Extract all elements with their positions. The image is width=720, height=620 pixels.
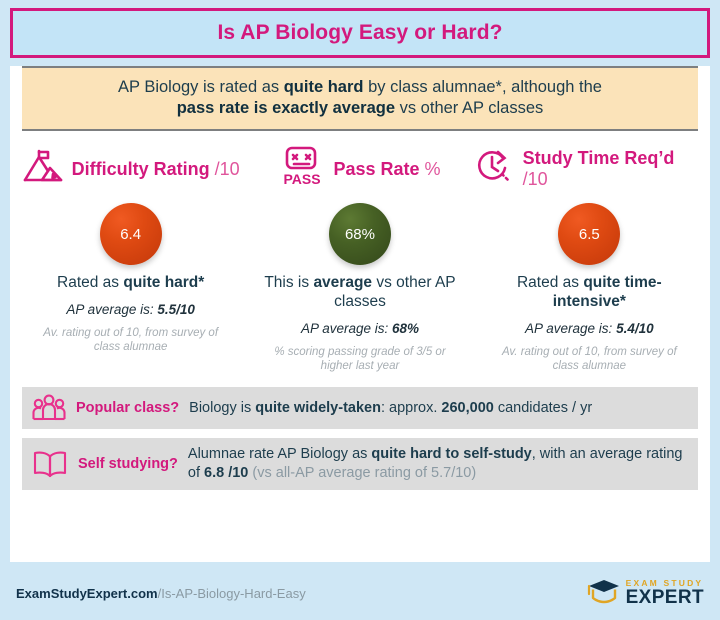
column-header: PASS Pass Rate % [245, 143, 474, 195]
verdict-study-time: Rated as quite time-intensive* [475, 273, 704, 311]
logo-tagline: EXAM STUDY [626, 579, 704, 588]
summary-line-1: AP Biology is rated as quite hard by cla… [32, 77, 688, 98]
average-pass-rate: AP average is: 68% [245, 320, 474, 337]
svg-text:PASS: PASS [284, 171, 321, 187]
column-title-unit: % [425, 159, 441, 179]
average-label: AP average is: [66, 302, 157, 317]
column-title-unit: /10 [215, 159, 240, 179]
text-b: quite hard to self-study [371, 446, 531, 462]
fact-bar-label-popular: Popular class? [76, 400, 179, 416]
average-label: AP average is: [525, 321, 616, 336]
title-box: Is AP Biology Easy or Hard? [10, 8, 710, 58]
column-title: Study Time Req’d /10 [523, 148, 704, 190]
average-value: 68% [392, 321, 419, 336]
column-header: Difficulty Rating /10 [16, 143, 245, 195]
column-header: Study Time Req’d /10 [475, 143, 704, 195]
fact-bar-self-studying: Self studying? Alumnae rate AP Biology a… [22, 438, 698, 490]
bubble-wrap: 6.4 [16, 195, 245, 273]
metric-column-difficulty: Difficulty Rating /10 6.4 Rated as quite… [16, 143, 245, 373]
verdict-emphasis: average [313, 274, 372, 291]
people-group-icon [32, 394, 66, 422]
column-title-unit: /10 [523, 169, 548, 189]
clock-arrow-icon [475, 148, 515, 191]
infographic-poster: Is AP Biology Easy or Hard? AP Biology i… [0, 0, 720, 620]
text-c: : approx. [381, 400, 441, 416]
metric-column-pass-rate: PASS Pass Rate % 68% This is average vs … [245, 143, 474, 373]
column-title-text: Study Time Req’d [523, 148, 675, 168]
fact-bar-text-popular: Biology is quite widely-taken: approx. 2… [189, 399, 592, 418]
average-value: 5.4/10 [616, 321, 654, 336]
summary-2b: vs other AP classes [395, 99, 543, 117]
summary-1c: by class alumnae*, although the [363, 78, 602, 96]
fact-bar-text-self-study: Alumnae rate AP Biology as quite hard to… [188, 445, 688, 483]
metric-bubble-pass-rate: 68% [329, 203, 391, 265]
average-difficulty: AP average is: 5.5/10 [16, 301, 245, 318]
column-title: Difficulty Rating /10 [72, 159, 240, 180]
note-study-time: Av. rating out of 10, from survey of cla… [475, 345, 704, 373]
verdict-prefix: Rated as [517, 274, 583, 291]
column-title: Pass Rate % [333, 159, 440, 180]
text-e: (vs all-AP average rating of 5.7/10) [248, 465, 476, 481]
verdict-difficulty: Rated as quite hard* [16, 273, 245, 292]
graduation-cap-icon [587, 577, 621, 610]
summary-banner: AP Biology is rated as quite hard by cla… [22, 66, 698, 131]
note-difficulty: Av. rating out of 10, from survey of cla… [16, 326, 245, 354]
logo-wordmark: EXAM STUDY EXPERT [626, 579, 704, 608]
page-title: Is AP Biology Easy or Hard? [217, 21, 502, 45]
bubble-wrap: 6.5 [475, 195, 704, 273]
average-value: 5.5/10 [157, 302, 195, 317]
text-d: 6.8 /10 [204, 465, 248, 481]
column-title-text: Pass Rate [333, 159, 419, 179]
verdict-pass-rate: This is average vs other AP classes [245, 273, 474, 311]
summary-line-2: pass rate is exactly average vs other AP… [32, 98, 688, 119]
footer-path: /Is-AP-Biology-Hard-Easy [158, 586, 306, 601]
pass-stamp-icon: PASS [279, 146, 325, 193]
mountain-flag-icon [22, 149, 64, 190]
summary-2a: pass rate is exactly average [177, 99, 395, 117]
note-pass-rate: % scoring passing grade of 3/5 or higher… [245, 345, 474, 373]
metric-columns: Difficulty Rating /10 6.4 Rated as quite… [10, 143, 710, 373]
text-d: 260,000 [441, 400, 493, 416]
column-title-text: Difficulty Rating [72, 159, 210, 179]
logo-name: EXPERT [626, 588, 704, 607]
summary-1a: AP Biology is rated as [118, 78, 284, 96]
metric-bubble-difficulty: 6.4 [100, 203, 162, 265]
average-study-time: AP average is: 5.4/10 [475, 320, 704, 337]
verdict-prefix: Rated as [57, 274, 123, 291]
average-label: AP average is: [301, 321, 392, 336]
brand-logo: EXAM STUDY EXPERT [587, 577, 704, 610]
text-a: Alumnae rate AP Biology as [188, 446, 372, 462]
footer-domain: ExamStudyExpert.com [16, 586, 158, 601]
text-b: quite widely-taken [255, 400, 381, 416]
open-book-icon [32, 449, 68, 479]
fact-bar-label-self-study: Self studying? [78, 456, 178, 472]
metric-column-study-time: Study Time Req’d /10 6.5 Rated as quite … [475, 143, 704, 373]
fact-bars: Popular class? Biology is quite widely-t… [22, 387, 698, 490]
footer-url[interactable]: ExamStudyExpert.com/Is-AP-Biology-Hard-E… [16, 586, 306, 601]
verdict-emphasis: quite hard* [123, 274, 204, 291]
text-e: candidates / yr [494, 400, 592, 416]
fact-bar-popular-class: Popular class? Biology is quite widely-t… [22, 387, 698, 429]
summary-1b: quite hard [284, 78, 364, 96]
metric-bubble-study-time: 6.5 [558, 203, 620, 265]
footer: ExamStudyExpert.com/Is-AP-Biology-Hard-E… [10, 574, 710, 612]
text-a: Biology is [189, 400, 255, 416]
bubble-wrap: 68% [245, 195, 474, 273]
content-area: AP Biology is rated as quite hard by cla… [10, 66, 710, 562]
verdict-prefix: This is [264, 274, 313, 291]
